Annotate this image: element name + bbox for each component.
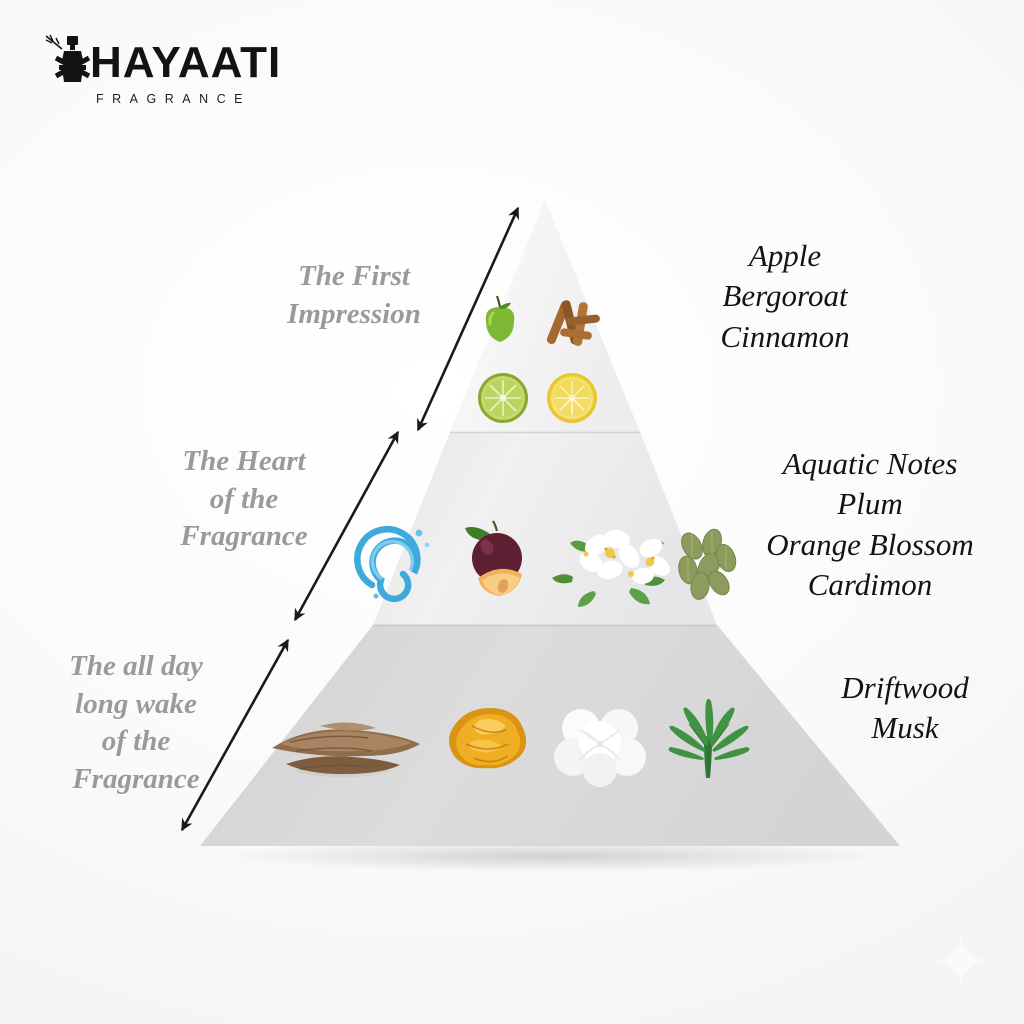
tier-caption-base: The all day long wake of the Fragrance	[20, 648, 252, 799]
tier-caption-middle: The Heart of the Fragrance	[128, 443, 360, 556]
notes-list-middle: Aquatic Notes Plum Orange Blossom Cardim…	[720, 444, 1020, 605]
notes-list-top: Apple Bergoroat Cinnamon	[620, 236, 950, 357]
tier-caption-top: The First Impression	[238, 258, 470, 333]
sparkle-icon	[934, 934, 988, 988]
fragrance-pyramid-infographic: HAYAATI FRAGRANCE	[0, 0, 1024, 1024]
notes-list-base: Driftwood Musk	[790, 668, 1020, 749]
lemon-half-icon	[547, 373, 597, 423]
lime-half-icon	[478, 373, 528, 423]
